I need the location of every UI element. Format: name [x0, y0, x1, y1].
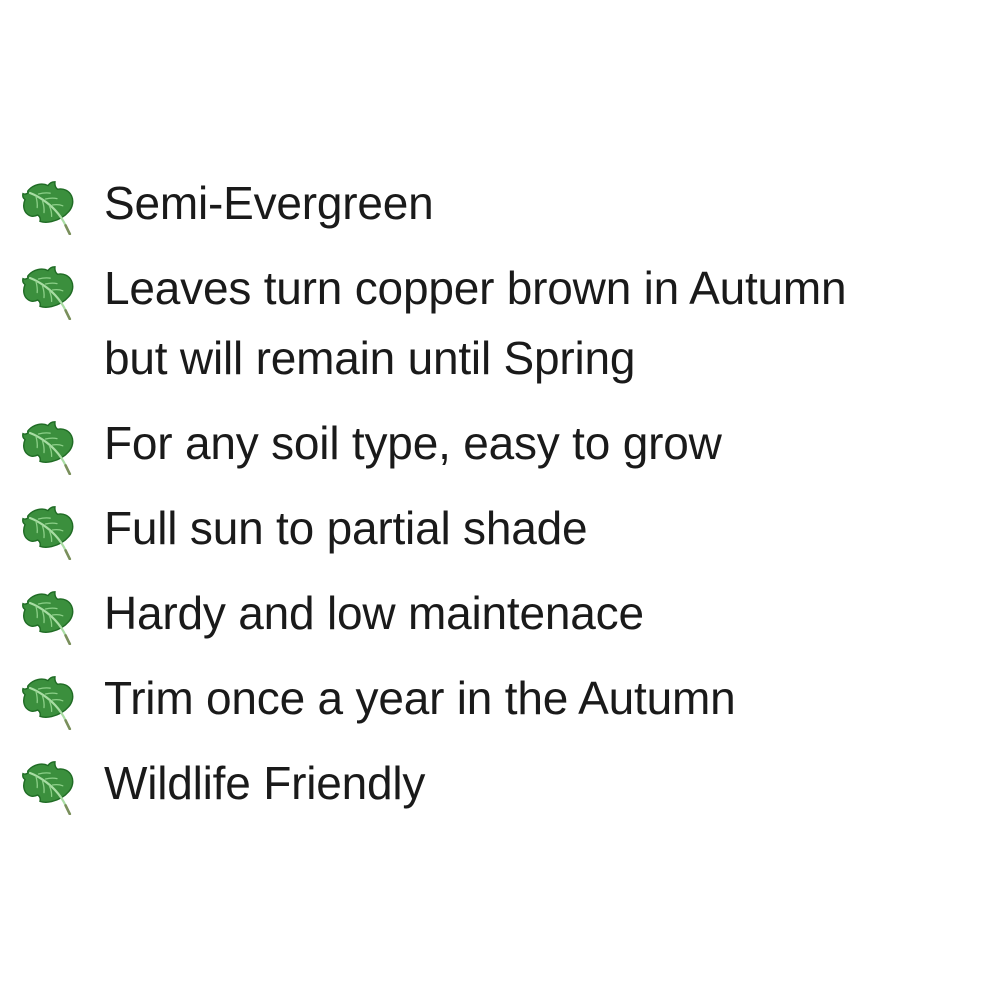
list-item: For any soil type, easy to grow [22, 408, 1000, 478]
leaf-icon [22, 759, 76, 815]
leaf-icon [22, 504, 76, 560]
leaf-icon [22, 264, 76, 320]
leaf-icon [22, 419, 76, 475]
feature-text: Leaves turn copper brown in Autumn but w… [104, 253, 1000, 393]
feature-list-page: Semi-Evergreen [0, 0, 1000, 1000]
list-item: Leaves turn copper brown in Autumn but w… [22, 253, 1000, 393]
feature-text: Full sun to partial shade [104, 493, 1000, 563]
feature-text: For any soil type, easy to grow [104, 408, 1000, 478]
feature-text: Wildlife Friendly [104, 748, 1000, 818]
leaf-icon [22, 589, 76, 645]
feature-text: Hardy and low maintenace [104, 578, 1000, 648]
list-item: Wildlife Friendly [22, 748, 1000, 818]
leaf-icon [22, 179, 76, 235]
list-item: Full sun to partial shade [22, 493, 1000, 563]
list-item: Semi-Evergreen [22, 168, 1000, 238]
plant-feature-list: Semi-Evergreen [22, 168, 1000, 833]
feature-text: Semi-Evergreen [104, 168, 1000, 238]
list-item: Hardy and low maintenace [22, 578, 1000, 648]
feature-text: Trim once a year in the Autumn [104, 663, 1000, 733]
list-item: Trim once a year in the Autumn [22, 663, 1000, 733]
leaf-icon [22, 674, 76, 730]
